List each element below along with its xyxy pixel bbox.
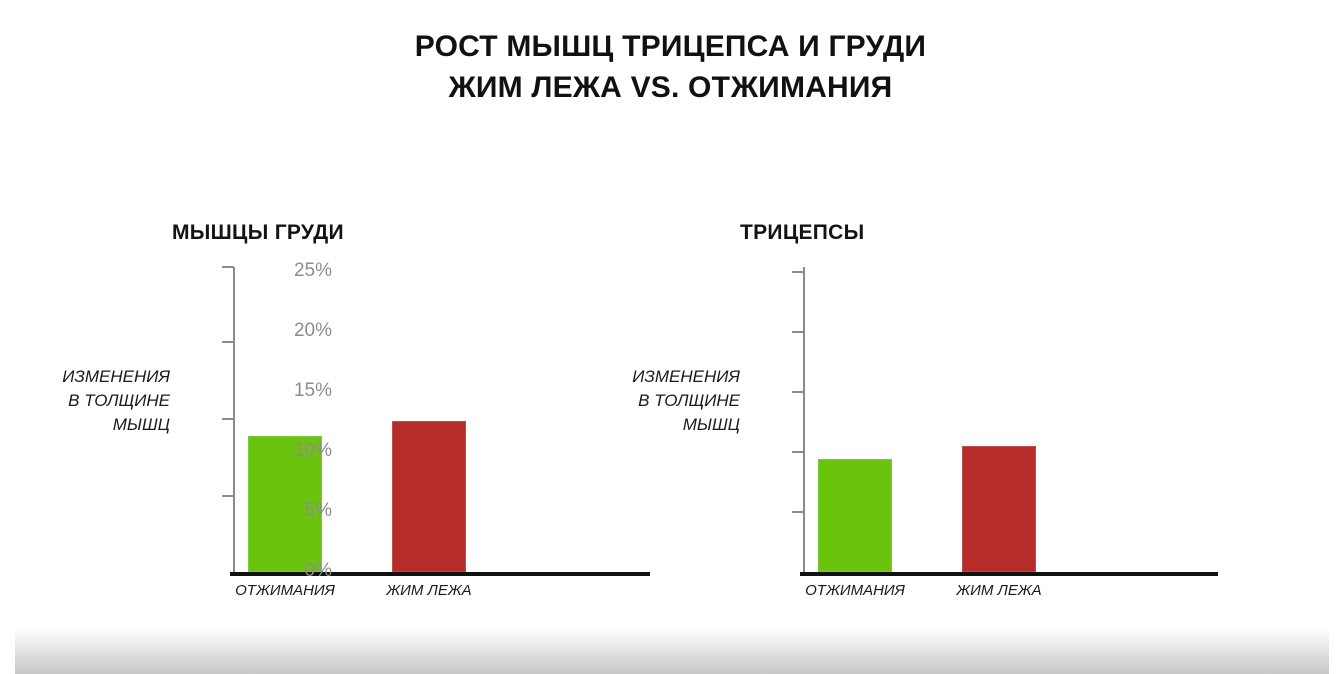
chart-panel-chest: МЫШЦЫ ГРУДИ ИЗМЕНЕНИЯ В ТОЛЩИНЕ МЫШЦ 0% … xyxy=(0,0,670,674)
bottom-gradient-strip xyxy=(15,628,1329,674)
y-tick-label-0: 0% xyxy=(272,560,332,582)
y-axis-caption-line-2: В ТОЛЩИНЕ xyxy=(580,389,740,413)
chart-title-triceps: ТРИЦЕПСЫ xyxy=(740,221,865,245)
y-axis-caption-line-3: МЫШЦ xyxy=(580,413,740,437)
chart-panel-triceps: ТРИЦЕПСЫ ИЗМЕНЕНИЯ В ТОЛЩИНЕ МЫШЦ 0% 5% … xyxy=(580,0,1250,674)
x-axis-baseline xyxy=(800,572,1218,576)
y-tick-label-20: 20% xyxy=(272,320,332,342)
bar-benchpress-chest[interactable] xyxy=(392,421,466,572)
y-axis-caption-line-1: ИЗМЕНЕНИЯ xyxy=(580,365,740,389)
y-axis-caption-line-3: МЫШЦ xyxy=(10,413,170,437)
bars-layer-triceps xyxy=(750,256,1230,572)
category-label-pushups-triceps: ОТЖИМАНИЯ xyxy=(788,582,922,599)
bar-benchpress-triceps[interactable] xyxy=(962,446,1036,572)
y-tick-label-25: 25% xyxy=(272,260,332,282)
bar-pushups-triceps[interactable] xyxy=(818,459,892,572)
category-label-pushups-chest: ОТЖИМАНИЯ xyxy=(218,582,352,599)
y-axis-caption-line-1: ИЗМЕНЕНИЯ xyxy=(10,365,170,389)
y-axis-caption-chest: ИЗМЕНЕНИЯ В ТОЛЩИНЕ МЫШЦ xyxy=(10,365,170,437)
y-tick-label-10: 10% xyxy=(272,440,332,462)
y-tick-label-15: 15% xyxy=(272,380,332,402)
y-axis-caption-line-2: В ТОЛЩИНЕ xyxy=(10,389,170,413)
plot-area-triceps: 0% 5% 10% 15% 20% 25% ОТЖИМАНИЯ ЖИМ ЛЕЖ xyxy=(750,256,1230,586)
category-label-benchpress-triceps: ЖИМ ЛЕЖА xyxy=(932,582,1066,599)
category-label-benchpress-chest: ЖИМ ЛЕЖА xyxy=(362,582,496,599)
y-tick-label-5: 5% xyxy=(272,500,332,522)
y-axis-caption-triceps: ИЗМЕНЕНИЯ В ТОЛЩИНЕ МЫШЦ xyxy=(580,365,740,437)
chart-title-chest: МЫШЦЫ ГРУДИ xyxy=(172,221,344,245)
